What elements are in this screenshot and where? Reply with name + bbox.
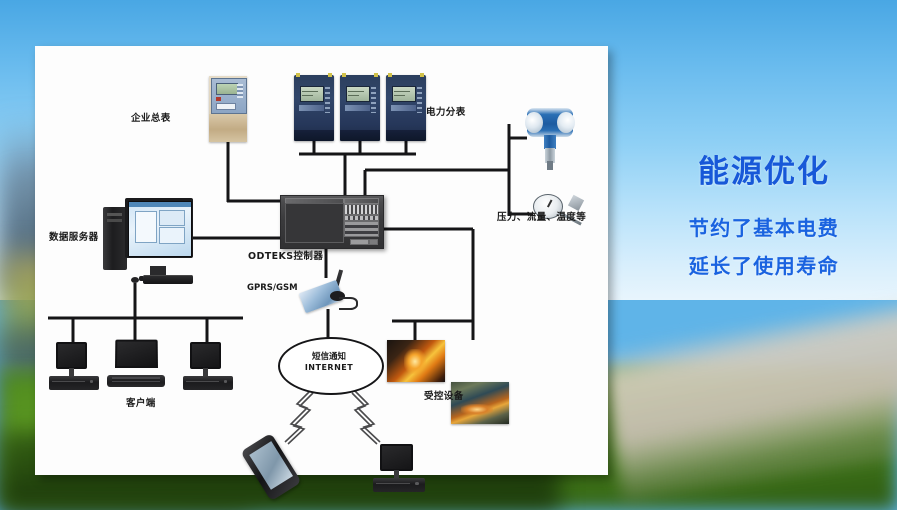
power-sub-meter-3[interactable] bbox=[386, 75, 426, 141]
client-monitor bbox=[56, 342, 87, 369]
screen-titlebar bbox=[129, 202, 191, 207]
gprs-gsm-modem[interactable] bbox=[301, 272, 357, 314]
laptop-keyboard bbox=[112, 377, 160, 382]
meter-clip-right bbox=[374, 73, 378, 77]
controller-label: ODTEKS控制器 bbox=[248, 252, 323, 263]
sms-notice-label: 短信通知 bbox=[278, 352, 380, 363]
client-keyboard-edge bbox=[52, 381, 85, 382]
mobile-phone[interactable] bbox=[253, 438, 289, 496]
meter-buttons bbox=[417, 87, 423, 113]
main-meter-face bbox=[211, 78, 246, 114]
client-system-unit bbox=[183, 376, 233, 390]
meter-lcd-display bbox=[300, 86, 324, 103]
data-server-label: 数据服务器 bbox=[49, 233, 99, 244]
screen-window-3 bbox=[159, 227, 186, 244]
server-keyboard bbox=[143, 275, 193, 284]
power-sub-meters-label: 电力分表 bbox=[426, 108, 466, 119]
power-sub-meter-1[interactable] bbox=[294, 75, 334, 141]
controller-display bbox=[285, 203, 344, 243]
remote-keyboard-edge bbox=[376, 483, 410, 484]
meter-lcd-display bbox=[346, 86, 370, 103]
pressure-transmitter[interactable] bbox=[527, 108, 573, 170]
client-laptop[interactable] bbox=[107, 339, 165, 390]
meter-terminal-block bbox=[340, 130, 380, 141]
meter-lcd-display bbox=[392, 86, 416, 103]
server-tower bbox=[103, 207, 127, 271]
server-screen bbox=[128, 201, 192, 257]
meter-clip-right bbox=[420, 73, 424, 77]
controller-terminal-grid bbox=[344, 204, 379, 214]
meter-strip bbox=[299, 105, 324, 110]
data-server[interactable] bbox=[103, 198, 193, 284]
controller-status-bar bbox=[344, 198, 379, 204]
benefit-line-1: 节约了基本电费 bbox=[640, 212, 888, 241]
client-label: 客户端 bbox=[126, 399, 156, 410]
furnace-equipment[interactable] bbox=[387, 340, 445, 382]
controller-keypad bbox=[344, 221, 379, 237]
client-desktop-1[interactable] bbox=[49, 342, 99, 390]
transmitter-cap-right bbox=[557, 112, 574, 133]
gprs-gsm-label: GPRS/GSM bbox=[247, 284, 298, 294]
main-meter-indicator bbox=[216, 97, 221, 101]
main-meter-keypad bbox=[216, 103, 236, 110]
meter-buttons bbox=[371, 87, 377, 113]
benefit-line-2: 延长了使用寿命 bbox=[640, 250, 888, 279]
meter-clip-left bbox=[388, 73, 392, 77]
client-power-button bbox=[224, 380, 228, 383]
remote-system-unit bbox=[373, 478, 425, 492]
client-monitor-neck bbox=[203, 368, 208, 376]
power-sub-meter-2[interactable] bbox=[340, 75, 380, 141]
client-monitor bbox=[190, 342, 221, 369]
slide-canvas: 企业总表 bbox=[0, 0, 897, 510]
foundry-equipment[interactable] bbox=[451, 382, 509, 424]
system-topology-diagram: 企业总表 bbox=[35, 46, 608, 475]
server-drive-bay bbox=[107, 213, 122, 216]
internet-label: INTERNET bbox=[278, 363, 380, 374]
controller-indicator-row bbox=[344, 215, 379, 222]
modem-cable bbox=[339, 297, 358, 310]
laptop-base bbox=[107, 375, 165, 387]
meter-clip-left bbox=[296, 73, 300, 77]
internet-cloud-text: 短信通知 INTERNET bbox=[278, 352, 380, 374]
meter-clip-right bbox=[328, 73, 332, 77]
screen-window-1 bbox=[135, 211, 157, 243]
transmitter-stem bbox=[545, 148, 554, 163]
screen-window-2 bbox=[159, 210, 186, 226]
transmitter-process-connection bbox=[547, 161, 553, 170]
meter-terminal-block bbox=[294, 130, 334, 141]
meter-buttons bbox=[325, 87, 331, 113]
meter-strip bbox=[391, 105, 416, 110]
main-meter-terminals bbox=[237, 84, 243, 98]
client-power-button bbox=[90, 380, 94, 383]
enterprise-main-meter-label: 企业总表 bbox=[131, 114, 171, 125]
enterprise-main-meter[interactable] bbox=[209, 76, 247, 142]
transmitter-cap-left bbox=[525, 112, 542, 133]
diagram-panel: 企业总表 bbox=[35, 46, 608, 475]
server-mouse bbox=[131, 277, 139, 283]
main-meter-display bbox=[216, 83, 239, 95]
remote-monitor-neck bbox=[394, 470, 399, 478]
sensors-label: 压力、流量、温度等 bbox=[497, 213, 586, 224]
client-monitor-neck bbox=[69, 368, 74, 376]
meter-terminal-block bbox=[386, 130, 426, 141]
server-drive-bay-2 bbox=[107, 219, 122, 222]
controlled-equipment-label: 受控设备 bbox=[424, 392, 464, 403]
client-system-unit bbox=[49, 376, 99, 390]
main-meter-mount-board bbox=[209, 114, 247, 142]
laptop-screen bbox=[115, 340, 158, 368]
remote-desktop[interactable] bbox=[373, 444, 425, 492]
remote-monitor bbox=[380, 444, 412, 471]
page-title: 能源优化 bbox=[640, 146, 888, 191]
client-keyboard-edge bbox=[186, 381, 219, 382]
odteks-controller[interactable] bbox=[280, 195, 384, 249]
meter-clip-left bbox=[342, 73, 346, 77]
server-monitor bbox=[125, 198, 193, 258]
client-desktop-2[interactable] bbox=[183, 342, 233, 390]
remote-power-button bbox=[415, 482, 419, 485]
meter-strip bbox=[345, 105, 370, 110]
controller-button-primary[interactable] bbox=[350, 239, 368, 246]
controller-button-secondary[interactable] bbox=[369, 239, 378, 246]
